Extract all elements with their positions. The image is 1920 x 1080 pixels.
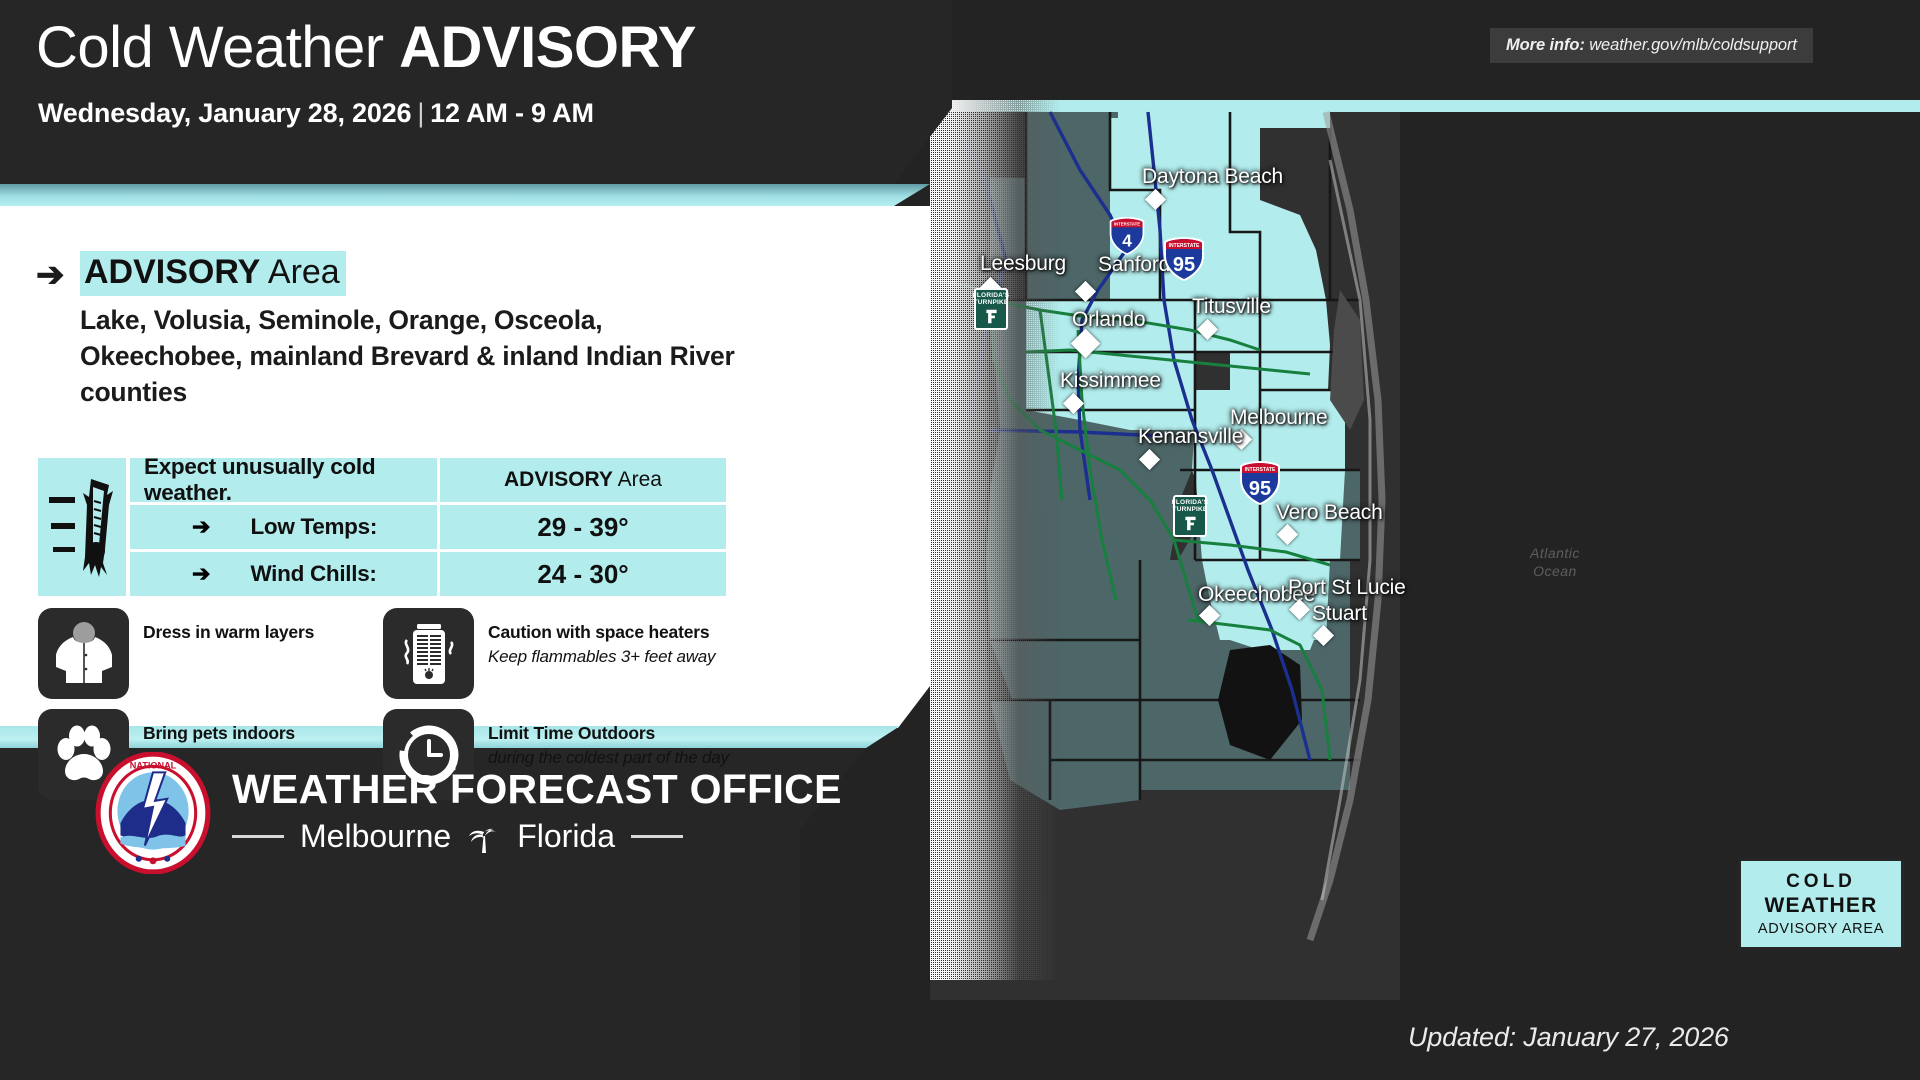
city-label: Port St Lucie xyxy=(1288,576,1406,600)
city-label: Kenansville xyxy=(1138,425,1243,449)
low-temps-label: Low Temps: xyxy=(250,514,377,540)
svg-text:4: 4 xyxy=(1122,230,1132,250)
coat-icon xyxy=(38,608,129,699)
low-temps-value: 29 - 39° xyxy=(537,512,628,543)
tip-title: Bring pets indoors xyxy=(143,723,295,745)
tip-subtitle: Keep flammables 3+ feet away xyxy=(488,646,715,668)
heater-icon xyxy=(383,608,474,699)
thermometer-icon xyxy=(38,458,126,596)
tip-title: Limit Time Outdoors xyxy=(488,723,729,745)
svg-text:NATIONAL: NATIONAL xyxy=(130,760,177,770)
table-column-header: ADVISORY Area xyxy=(504,468,662,492)
tip-space-heaters: Caution with space heaters Keep flammabl… xyxy=(383,608,715,699)
legend-line-3: ADVISORY AREA xyxy=(1747,921,1895,937)
office-location: Melbourne Florida xyxy=(232,818,683,855)
office-title: WEATHER FORECAST OFFICE xyxy=(232,766,842,813)
wind-chills-label: Wind Chills: xyxy=(250,561,376,587)
legend-line-2: WEATHER xyxy=(1747,894,1895,918)
tip-title: Caution with space heaters xyxy=(488,622,715,644)
palm-tree-icon xyxy=(467,820,501,854)
city-label: Melbourne xyxy=(1230,406,1327,430)
tip-dress-warm-layers: Dress in warm layers xyxy=(38,608,314,699)
svg-text:95: 95 xyxy=(1173,254,1195,276)
florida-turnpike-icon: FLORIDA'STURNPIKE xyxy=(1173,495,1207,537)
city-label: Titusville xyxy=(1192,295,1271,319)
city-label: Leesburg xyxy=(980,252,1066,276)
atlantic-ocean-label: AtlanticOcean xyxy=(1530,545,1580,580)
advisory-area-heading: ADVISORY Area xyxy=(80,251,346,296)
office-city: Melbourne xyxy=(300,818,451,855)
interstate-shield-icon: INTERSTATE4 xyxy=(1108,213,1146,253)
subtitle-datetime: Wednesday, January 28, 2026|12 AM - 9 AM xyxy=(38,98,594,129)
svg-text:95: 95 xyxy=(1249,478,1271,500)
office-state: Florida xyxy=(517,818,615,855)
advisory-arrow-icon: ➔ xyxy=(36,255,65,295)
nws-logo: NATIONAL xyxy=(92,752,214,874)
row-arrow-icon: ➔ xyxy=(192,561,210,587)
table-intro-text: Expect unusually cold weather. xyxy=(144,454,437,506)
city-label: Kissimmee xyxy=(1060,369,1161,393)
map-legend: COLD WEATHER ADVISORY AREA xyxy=(1738,858,1904,950)
more-info-box[interactable]: More info: weather.gov/mlb/coldsupport xyxy=(1490,28,1813,63)
header-accent-bar xyxy=(0,184,930,206)
florida-turnpike-icon: FLORIDA'STURNPIKE xyxy=(974,288,1008,330)
legend-line-1: COLD xyxy=(1747,871,1895,893)
city-label: Orlando xyxy=(1072,308,1145,332)
interstate-shield-icon: INTERSTATE95 xyxy=(1162,236,1206,276)
city-label: Vero Beach xyxy=(1276,501,1383,525)
city-label: Stuart xyxy=(1312,602,1367,626)
svg-text:INTERSTATE: INTERSTATE xyxy=(1114,222,1140,227)
table-row: ➔Wind Chills: 24 - 30° xyxy=(130,552,726,596)
divider-dash-left xyxy=(232,835,284,838)
divider-dash-right xyxy=(631,835,683,838)
page-title: Cold Weather ADVISORY xyxy=(36,14,696,81)
temperature-table: Expect unusually cold weather. ADVISORY … xyxy=(38,458,726,596)
advisory-county-list: Lake, Volusia, Seminole, Orange, Osceola… xyxy=(80,302,740,410)
table-row: ➔Low Temps: 29 - 39° xyxy=(130,505,726,549)
svg-text:INTERSTATE: INTERSTATE xyxy=(1169,243,1200,249)
tip-title: Dress in warm layers xyxy=(143,622,314,644)
wind-chills-value: 24 - 30° xyxy=(537,559,628,590)
city-label: Daytona Beach xyxy=(1142,165,1283,189)
updated-timestamp: Updated: January 27, 2026 xyxy=(1408,1022,1729,1053)
interstate-shield-icon: INTERSTATE95 xyxy=(1238,460,1282,500)
svg-text:INTERSTATE: INTERSTATE xyxy=(1245,467,1276,473)
row-arrow-icon: ➔ xyxy=(192,514,210,540)
